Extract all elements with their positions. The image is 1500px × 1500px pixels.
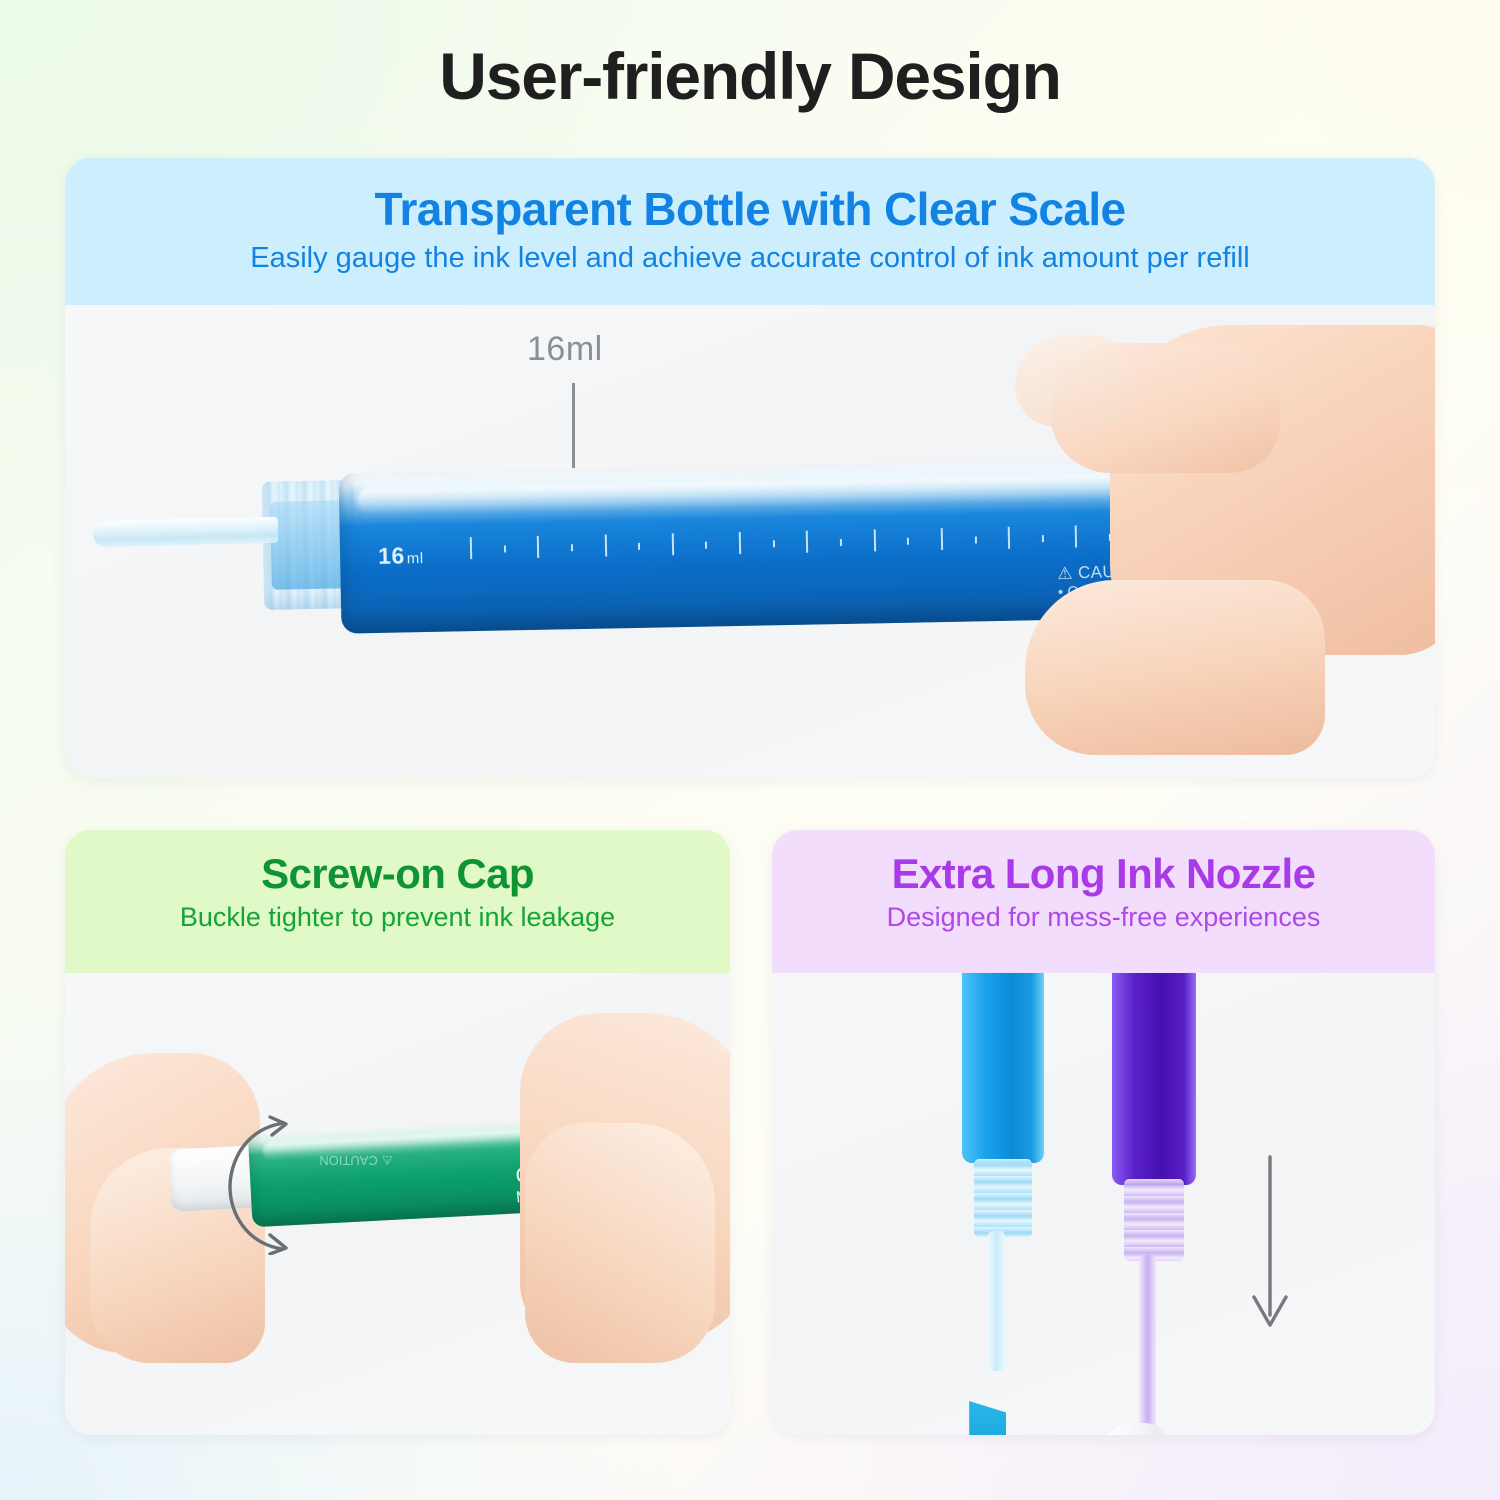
bottle-scale-label: 16ml <box>378 542 424 570</box>
card-header: Extra Long Ink Nozzle Designed for mess-… <box>772 830 1435 933</box>
down-arrow-icon <box>1240 1155 1300 1345</box>
product-photo-transparent-bottle: 16ml 16ml ⚠ CAUTION: • Contains 55.5-85%… <box>65 305 1435 778</box>
thumb <box>1025 580 1325 755</box>
right-hand-thumb <box>525 1123 715 1363</box>
card-header: Screw-on Cap Buckle tighter to prevent i… <box>65 830 730 933</box>
scale-tick <box>1008 527 1010 549</box>
ink-bottle-blue-long-nozzle <box>988 1231 1005 1371</box>
scale-tick <box>806 531 808 553</box>
scale-tick <box>705 542 707 549</box>
page-title: User-friendly Design <box>0 38 1500 114</box>
scale-tick <box>739 532 741 554</box>
ink-bottle-purple-long-nozzle <box>1139 1255 1156 1430</box>
card-subtitle: Designed for mess-free experiences <box>772 902 1435 933</box>
feature-card-screw-on-cap: Screw-on Cap Buckle tighter to prevent i… <box>65 830 730 1435</box>
ink-bottle-purple-neck-threads <box>1124 1179 1184 1261</box>
marker-barrel-right <box>1102 1423 1174 1435</box>
scale-tick <box>504 545 506 552</box>
scale-tick <box>604 535 606 557</box>
marker-chisel-nib <box>960 1401 1006 1435</box>
card-title: Screw-on Cap <box>65 850 730 898</box>
ink-bottle-blue-neck-threads <box>974 1159 1032 1237</box>
scale-tick <box>974 536 976 543</box>
scale-tick <box>941 528 943 550</box>
thumbnail <box>1015 335 1135 427</box>
scale-tick <box>773 540 775 547</box>
ink-bottle-purple-body <box>1112 973 1196 1185</box>
scale-tick <box>470 537 472 559</box>
bottle-nozzle <box>93 517 279 548</box>
card-header: Transparent Bottle with Clear Scale Easi… <box>65 158 1435 275</box>
feature-card-transparent-bottle: Transparent Bottle with Clear Scale Easi… <box>65 158 1435 778</box>
ink-bottle-blue-body <box>962 973 1044 1163</box>
scale-tick <box>537 536 539 558</box>
product-photo-extra-long-nozzle: BROAD <box>772 973 1435 1435</box>
product-photo-screw-on-cap: ⚠ CAUTION Ohuhu® Marker Ink <box>65 973 730 1435</box>
scale-tick <box>571 544 573 551</box>
callout-label-16ml: 16ml <box>527 330 603 369</box>
rotate-arrow-icon <box>220 1115 350 1255</box>
scale-tick <box>873 529 875 551</box>
scale-tick <box>638 543 640 550</box>
feature-card-extra-long-nozzle: Extra Long Ink Nozzle Designed for mess-… <box>772 830 1435 1435</box>
card-title: Transparent Bottle with Clear Scale <box>65 182 1435 236</box>
bottle-neck-inner <box>270 500 348 590</box>
scale-tick <box>672 533 674 555</box>
scale-unit: ml <box>407 550 424 567</box>
hand-holding-bottle <box>1015 335 1435 755</box>
scale-tick <box>840 539 842 546</box>
card-subtitle: Easily gauge the ink level and achieve a… <box>65 242 1435 275</box>
card-subtitle: Buckle tighter to prevent ink leakage <box>65 902 730 933</box>
scale-tick <box>907 538 909 545</box>
scale-value: 16 <box>378 542 405 569</box>
card-title: Extra Long Ink Nozzle <box>772 850 1435 898</box>
